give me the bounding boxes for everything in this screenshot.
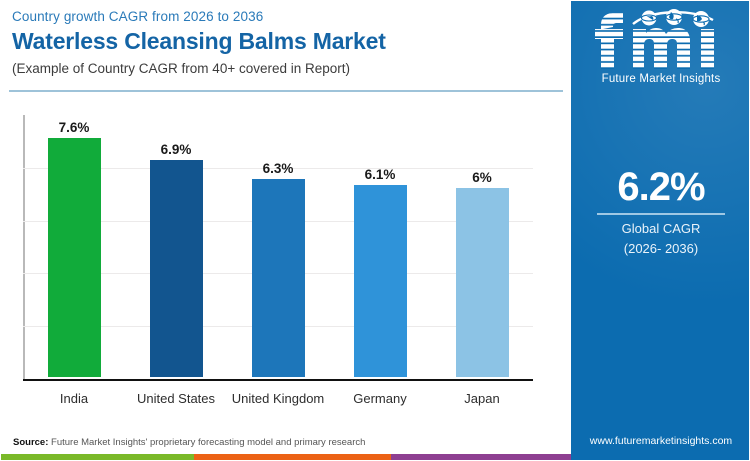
eyebrow-text: Country growth CAGR from 2026 to 2036 [12, 9, 263, 24]
bar-japan[interactable] [456, 188, 509, 377]
y-axis-line [23, 115, 25, 380]
source-text: Future Market Insights' proprietary fore… [51, 437, 365, 448]
footer-stripe-purple [391, 454, 571, 461]
header-divider [9, 90, 563, 92]
globe-icon-3 [693, 11, 709, 27]
footer-stripe-orange [194, 454, 391, 461]
globe-icon-1 [642, 11, 657, 26]
x-axis-label: Japan [427, 391, 537, 407]
x-axis-label: United Kingdom [223, 391, 333, 407]
source-note: Source: Future Market Insights' propriet… [13, 437, 365, 448]
brand-panel: Future Market Insights 6.2% Global CAGR … [571, 1, 750, 461]
bar-united-kingdom[interactable] [252, 179, 305, 377]
x-axis-label: Germany [325, 391, 435, 407]
global-cagr-period: (2026- 2036) [571, 241, 750, 256]
x-axis-line [23, 379, 533, 381]
bar-value-label: 6% [437, 170, 527, 185]
page-subtitle: (Example of Country CAGR from 40+ covere… [12, 61, 350, 76]
bar-value-label: 7.6% [29, 120, 119, 135]
bar-chart: 7.6%India6.9%United States6.3%United Kin… [1, 101, 571, 421]
bar-germany[interactable] [354, 185, 407, 377]
website-url: www.futuremarketinsights.com [571, 435, 750, 447]
x-axis-label: United States [121, 391, 231, 407]
fmi-tagline: Future Market Insights [589, 73, 733, 85]
x-axis-label: India [19, 391, 129, 407]
bar-india[interactable] [48, 138, 101, 377]
chart-area: Country growth CAGR from 2026 to 2036 Wa… [1, 1, 571, 461]
cagr-divider [597, 213, 725, 215]
infographic-canvas: Country growth CAGR from 2026 to 2036 Wa… [0, 0, 750, 461]
global-cagr-value: 6.2% [571, 165, 750, 210]
globe-icon-2 [666, 9, 682, 25]
plot-ana: 7.6%India6.9%United States6.3%United Kin… [23, 115, 533, 379]
fmi-logo: Future Market Insights [589, 7, 733, 93]
global-cagr-label: Global CAGR [571, 221, 750, 236]
bar-united-states[interactable] [150, 160, 203, 377]
footer-stripe-green [1, 454, 194, 461]
source-label: Source: [13, 437, 48, 448]
bar-value-label: 6.3% [233, 161, 323, 176]
page-title: Waterless Cleansing Balms Market [12, 28, 386, 55]
fmi-logo-mark [589, 7, 733, 71]
bar-value-label: 6.9% [131, 142, 221, 157]
bar-value-label: 6.1% [335, 167, 425, 182]
fmi-wordmark [589, 7, 733, 71]
